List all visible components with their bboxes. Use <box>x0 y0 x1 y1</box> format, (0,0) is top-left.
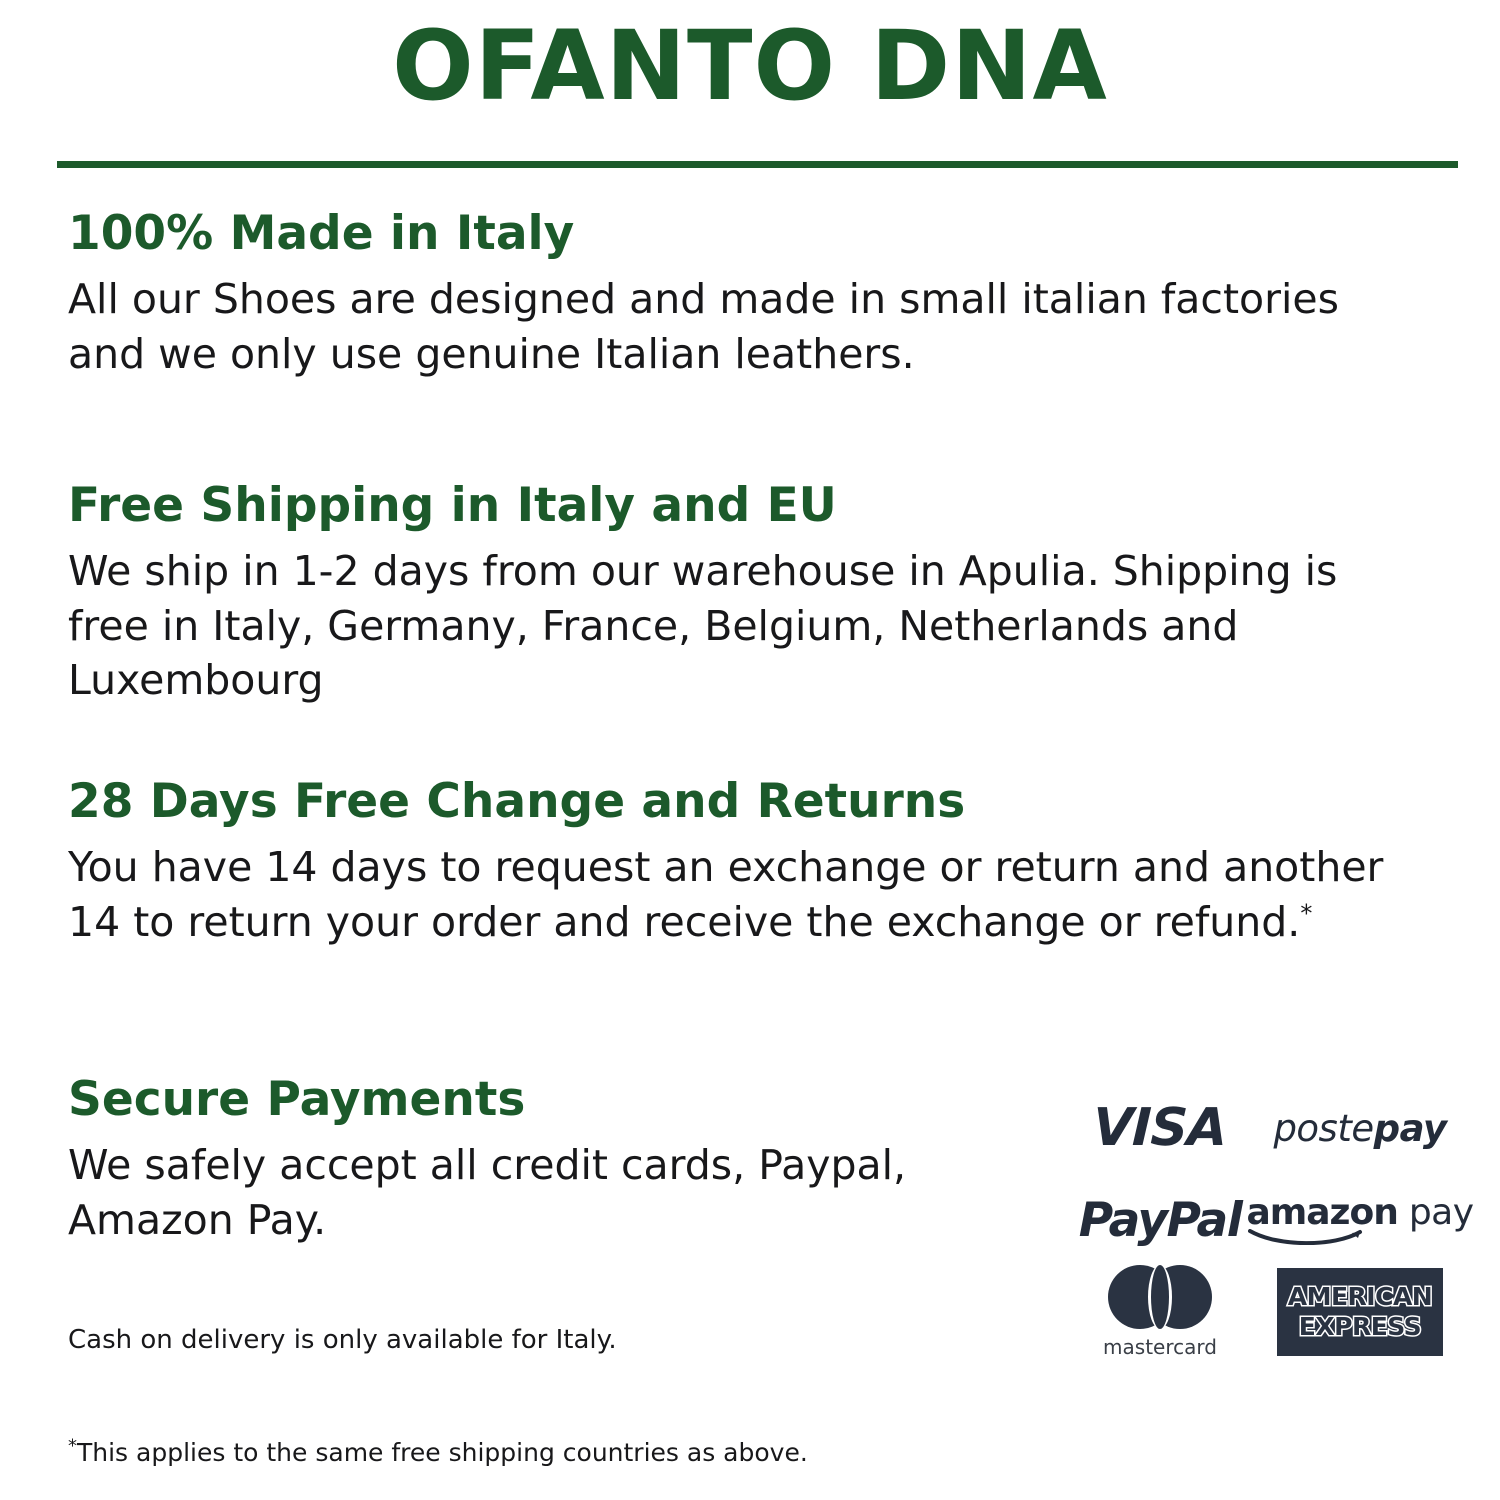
american-express-icon: AMERICAN EXPRESS <box>1277 1268 1443 1356</box>
visa-icon: VISA <box>1092 1098 1227 1158</box>
section-body-free-shipping: We ship in 1-2 days from our warehouse i… <box>68 544 1428 708</box>
mastercard-label: mastercard <box>1103 1335 1217 1359</box>
page-title: OFANTO DNA <box>0 18 1500 114</box>
section-body-secure-payments: We safely accept all credit cards, Paypa… <box>68 1138 1008 1247</box>
payment-cell-visa: VISA <box>1060 1082 1260 1174</box>
section-heading-returns: 28 Days Free Change and Returns <box>68 773 1428 830</box>
payment-cell-paypal: PayPal <box>1060 1174 1260 1266</box>
payment-cell-amex: AMERICAN EXPRESS <box>1260 1266 1460 1358</box>
amex-line-2: EXPRESS <box>1299 1314 1421 1340</box>
section-free-shipping: Free Shipping in Italy and EU We ship in… <box>68 477 1428 708</box>
mastercard-circles-icon <box>1108 1265 1212 1329</box>
footnote: *This applies to the same free shipping … <box>68 1437 808 1470</box>
amazon-pay-icon-wordmark: amazon <box>1246 1192 1397 1233</box>
amazon-smile-icon <box>1248 1229 1364 1245</box>
section-body-returns: You have 14 days to request an exchange … <box>68 840 1428 949</box>
section-made-in-italy: 100% Made in Italy All our Shoes are des… <box>68 205 1428 381</box>
mastercard-icon: mastercard <box>1103 1265 1217 1359</box>
returns-asterisk: * <box>1300 899 1312 927</box>
section-body-returns-text: You have 14 days to request an exchange … <box>68 843 1383 946</box>
amazon-pay-icon-suffix: pay <box>1398 1192 1474 1233</box>
postepay-icon-bold: pay <box>1374 1107 1447 1150</box>
page-root: OFANTO DNA 100% Made in Italy All our Sh… <box>0 0 1500 1500</box>
amex-line-1: AMERICAN <box>1288 1284 1432 1310</box>
postepay-icon-light: poste <box>1273 1107 1373 1150</box>
payment-methods-grid: VISA postepay PayPal amazon pay <box>1060 1082 1460 1358</box>
section-heading-free-shipping: Free Shipping in Italy and EU <box>68 477 1428 534</box>
postepay-icon: postepay <box>1273 1107 1446 1150</box>
section-body-made-in-italy: All our Shoes are designed and made in s… <box>68 272 1428 381</box>
header-divider <box>57 161 1458 168</box>
cash-on-delivery-note: Cash on delivery is only available for I… <box>68 1324 617 1358</box>
payment-row-1: VISA postepay <box>1060 1082 1460 1174</box>
footnote-text: This applies to the same free shipping c… <box>77 1438 808 1467</box>
footnote-asterisk: * <box>68 1436 77 1457</box>
section-secure-payments: Secure Payments We safely accept all cre… <box>68 1071 1008 1247</box>
payment-cell-mastercard: mastercard <box>1060 1266 1260 1358</box>
paypal-icon: PayPal <box>1079 1193 1242 1248</box>
mastercard-circle-overlap <box>1148 1265 1172 1329</box>
section-heading-made-in-italy: 100% Made in Italy <box>68 205 1428 262</box>
payment-cell-postepay: postepay <box>1260 1082 1460 1174</box>
payment-row-2: PayPal amazon pay <box>1060 1174 1460 1266</box>
section-heading-secure-payments: Secure Payments <box>68 1071 1008 1128</box>
payment-row-3: mastercard AMERICAN EXPRESS <box>1060 1266 1460 1358</box>
section-returns: 28 Days Free Change and Returns You have… <box>68 773 1428 949</box>
payment-cell-amazonpay: amazon pay <box>1260 1174 1460 1266</box>
amazon-pay-icon: amazon pay <box>1246 1195 1473 1245</box>
